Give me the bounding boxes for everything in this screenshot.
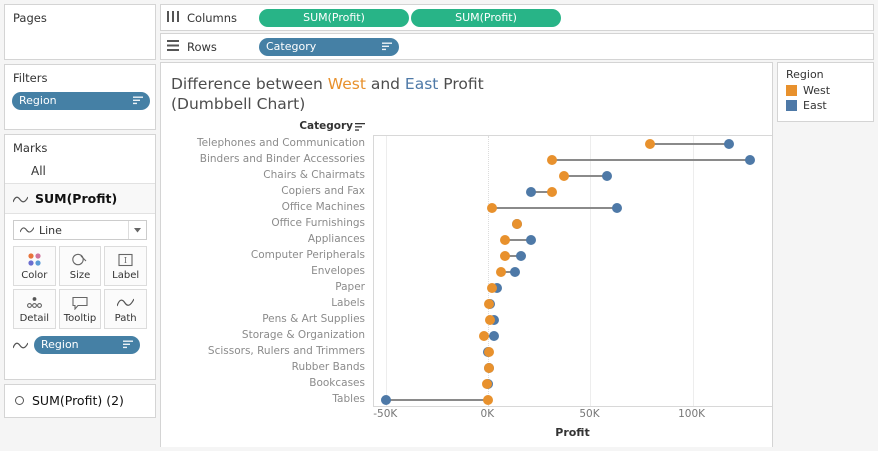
- category-label[interactable]: Bookcases: [161, 375, 373, 391]
- dumbbell-row[interactable]: [374, 280, 772, 296]
- category-label[interactable]: Computer Peripherals: [161, 247, 373, 263]
- columns-icon: [167, 11, 179, 25]
- marks-all-row[interactable]: All: [5, 159, 155, 184]
- dumbbell-row[interactable]: [374, 216, 772, 232]
- line-type-icon: [20, 226, 34, 234]
- data-point-west[interactable]: [512, 219, 522, 229]
- data-point-east[interactable]: [612, 203, 622, 213]
- marks-button-detail-label: Detail: [20, 313, 49, 324]
- connector-line: [564, 175, 607, 177]
- legend-item-label: West: [803, 84, 830, 97]
- legend-item[interactable]: East: [778, 99, 873, 114]
- marks-card-secondary-title: SUM(Profit) (2): [32, 393, 124, 408]
- marks-card-header-profit[interactable]: SUM(Profit): [5, 184, 155, 214]
- x-axis: -50K0K50K100K: [373, 407, 772, 423]
- color-legend[interactable]: Region WestEast: [777, 62, 874, 122]
- rows-pill-category[interactable]: Category: [259, 38, 399, 56]
- chart-title-post: Profit: [438, 75, 483, 93]
- plot-area: Telephones and CommunicationBinders and …: [161, 135, 772, 407]
- dumbbell-row[interactable]: [374, 184, 772, 200]
- line-mark-icon: [13, 189, 28, 208]
- marks-pill-label: Region: [41, 338, 79, 351]
- filters-shelf[interactable]: Filters Region: [4, 64, 156, 130]
- rows-shelf-label-group: Rows: [167, 40, 259, 54]
- x-axis-tick-label: 0K: [481, 408, 495, 420]
- dumbbell-row[interactable]: [374, 344, 772, 360]
- dumbbell-row[interactable]: [374, 136, 772, 152]
- category-label[interactable]: Copiers and Fax: [161, 183, 373, 199]
- columns-shelf[interactable]: Columns SUM(Profit) SUM(Profit): [160, 4, 874, 31]
- data-point-west[interactable]: [645, 139, 655, 149]
- path-encoding-icon: [13, 335, 28, 354]
- data-point-east[interactable]: [381, 395, 391, 405]
- rows-label: Rows: [187, 40, 217, 54]
- data-point-west[interactable]: [496, 267, 506, 277]
- data-point-east[interactable]: [745, 155, 755, 165]
- legend-swatch: [786, 85, 797, 96]
- data-point-west[interactable]: [483, 395, 493, 405]
- data-point-west[interactable]: [547, 155, 557, 165]
- chevron-down-icon[interactable]: [128, 221, 146, 239]
- data-point-west[interactable]: [487, 203, 497, 213]
- marks-color-encoding-row: Region: [5, 329, 155, 354]
- data-point-west[interactable]: [479, 331, 489, 341]
- marks-pill-region[interactable]: Region: [34, 336, 140, 354]
- data-point-west[interactable]: [559, 171, 569, 181]
- category-label[interactable]: Labels: [161, 295, 373, 311]
- x-axis-tick-label: 100K: [678, 408, 705, 420]
- columns-shelf-label-group: Columns: [167, 11, 259, 25]
- dumbbell-row[interactable]: [374, 392, 772, 408]
- marks-button-color[interactable]: Color: [13, 246, 56, 286]
- dumbbell-row[interactable]: [374, 312, 772, 328]
- pages-shelf[interactable]: Pages: [4, 4, 156, 60]
- size-icon: [71, 251, 88, 268]
- category-label[interactable]: Paper: [161, 279, 373, 295]
- category-label[interactable]: Binders and Binder Accessories: [161, 151, 373, 167]
- mark-type-dropdown[interactable]: Line: [13, 220, 147, 240]
- legend-item-label: East: [803, 99, 827, 112]
- x-axis-tick-label: -50K: [373, 408, 397, 420]
- svg-text:I: I: [124, 256, 127, 265]
- columns-pill-2-label: SUM(Profit): [455, 11, 517, 24]
- dumbbell-row[interactable]: [374, 328, 772, 344]
- data-point-east[interactable]: [489, 331, 499, 341]
- marks-button-label[interactable]: I Label: [104, 246, 147, 286]
- dumbbell-row[interactable]: [374, 376, 772, 392]
- data-point-west[interactable]: [547, 187, 557, 197]
- filter-pill-region[interactable]: Region: [12, 92, 150, 110]
- rows-icon: [167, 40, 179, 54]
- data-point-east[interactable]: [724, 139, 734, 149]
- data-point-west[interactable]: [500, 251, 510, 261]
- chart-title-west: West: [328, 75, 366, 93]
- data-point-east[interactable]: [516, 251, 526, 261]
- chart-title: Difference between West and East Profit …: [161, 63, 772, 113]
- category-label[interactable]: Rubber Bands: [161, 359, 373, 375]
- marks-label: Marks: [5, 135, 155, 159]
- data-point-east[interactable]: [510, 267, 520, 277]
- x-axis-title: Profit: [373, 426, 772, 439]
- marks-card: Marks All SUM(Profit) Line: [4, 134, 156, 380]
- pages-label: Pages: [5, 5, 155, 29]
- filter-pill-label: Region: [19, 94, 57, 107]
- dumbbell-row[interactable]: [374, 360, 772, 376]
- label-icon: I: [118, 251, 133, 268]
- category-label[interactable]: Office Furnishings: [161, 215, 373, 231]
- columns-pill-sum-profit-2[interactable]: SUM(Profit): [411, 9, 561, 27]
- mark-property-buttons: Color Size I Label Detail: [5, 246, 155, 329]
- category-label[interactable]: Tables: [161, 391, 373, 407]
- marks-button-size-label: Size: [70, 270, 91, 281]
- x-axis-tick-label: 50K: [579, 408, 599, 420]
- category-label[interactable]: Office Machines: [161, 199, 373, 215]
- row-field-header-label: Category: [299, 120, 353, 132]
- visualization-panel: Difference between West and East Profit …: [160, 62, 773, 447]
- tooltip-icon: [72, 294, 88, 311]
- chart-title-east: East: [405, 75, 438, 93]
- data-point-west[interactable]: [484, 363, 494, 373]
- marks-card-title: SUM(Profit): [35, 191, 117, 206]
- columns-pills: SUM(Profit) SUM(Profit): [259, 9, 561, 27]
- data-point-east[interactable]: [526, 187, 536, 197]
- category-label[interactable]: Pens & Art Supplies: [161, 311, 373, 327]
- detail-icon: [26, 294, 43, 311]
- filter-menu-icon[interactable]: [133, 96, 143, 105]
- sort-icon[interactable]: [355, 121, 365, 136]
- color-icon: [26, 251, 43, 268]
- marks-card-secondary-header[interactable]: SUM(Profit) (2): [5, 385, 155, 416]
- marks-button-tooltip[interactable]: Tooltip: [59, 289, 102, 329]
- legend-title: Region: [778, 63, 873, 84]
- tableau-worksheet: Pages Filters Region Marks All SUM(Profi…: [0, 0, 878, 451]
- rows-shelf[interactable]: Rows Category: [160, 33, 874, 60]
- marks-button-size[interactable]: Size: [59, 246, 102, 286]
- marks-button-color-label: Color: [21, 270, 47, 281]
- rows-pill-sort-icon[interactable]: [382, 42, 392, 51]
- category-label[interactable]: Telephones and Communication: [161, 135, 373, 151]
- marks-card-secondary[interactable]: SUM(Profit) (2): [4, 384, 156, 418]
- data-point-east[interactable]: [602, 171, 612, 181]
- dumbbell-plot[interactable]: [373, 135, 772, 407]
- connector-line: [386, 399, 488, 401]
- data-point-east[interactable]: [526, 235, 536, 245]
- category-label[interactable]: Envelopes: [161, 263, 373, 279]
- connector-line: [492, 207, 617, 209]
- dumbbell-row[interactable]: [374, 200, 772, 216]
- dumbbell-row[interactable]: [374, 296, 772, 312]
- data-point-west[interactable]: [484, 347, 494, 357]
- connector-line: [650, 143, 730, 145]
- data-point-west[interactable]: [500, 235, 510, 245]
- legend-swatch: [786, 100, 797, 111]
- filters-label: Filters: [5, 65, 155, 89]
- dumbbell-row[interactable]: [374, 264, 772, 280]
- category-axis-labels: Telephones and CommunicationBinders and …: [161, 135, 373, 407]
- connector-line: [552, 159, 750, 161]
- dumbbell-row[interactable]: [374, 248, 772, 264]
- category-label[interactable]: Scissors, Rulers and Trimmers: [161, 343, 373, 359]
- chart-title-mid: and: [366, 75, 405, 93]
- marks-button-detail[interactable]: Detail: [13, 289, 56, 329]
- path-icon: [117, 294, 134, 311]
- marks-button-path-label: Path: [115, 313, 137, 324]
- rows-pills: Category: [259, 38, 399, 56]
- marks-button-tooltip-label: Tooltip: [64, 313, 96, 324]
- columns-pill-1-label: SUM(Profit): [303, 11, 365, 24]
- dumbbell-row[interactable]: [374, 152, 772, 168]
- category-label[interactable]: Chairs & Chairmats: [161, 167, 373, 183]
- marks-button-label-label: Label: [112, 270, 139, 281]
- dumbbell-row[interactable]: [374, 168, 772, 184]
- rows-pill-label: Category: [266, 40, 316, 53]
- columns-pill-sum-profit-1[interactable]: SUM(Profit): [259, 9, 409, 27]
- columns-label: Columns: [187, 11, 237, 25]
- dumbbell-row[interactable]: [374, 232, 772, 248]
- chart-subtitle: (Dumbbell Chart): [171, 95, 772, 113]
- row-field-header[interactable]: Category: [161, 119, 373, 134]
- category-label[interactable]: Storage & Organization: [161, 327, 373, 343]
- legend-item[interactable]: West: [778, 84, 873, 99]
- marks-button-path[interactable]: Path: [104, 289, 147, 329]
- circle-mark-icon: [15, 396, 24, 405]
- category-label[interactable]: Appliances: [161, 231, 373, 247]
- chart-title-pre: Difference between: [171, 75, 328, 93]
- mark-type-value: Line: [39, 224, 62, 237]
- legend-items: WestEast: [778, 84, 873, 114]
- marks-pill-menu-icon[interactable]: [123, 340, 133, 349]
